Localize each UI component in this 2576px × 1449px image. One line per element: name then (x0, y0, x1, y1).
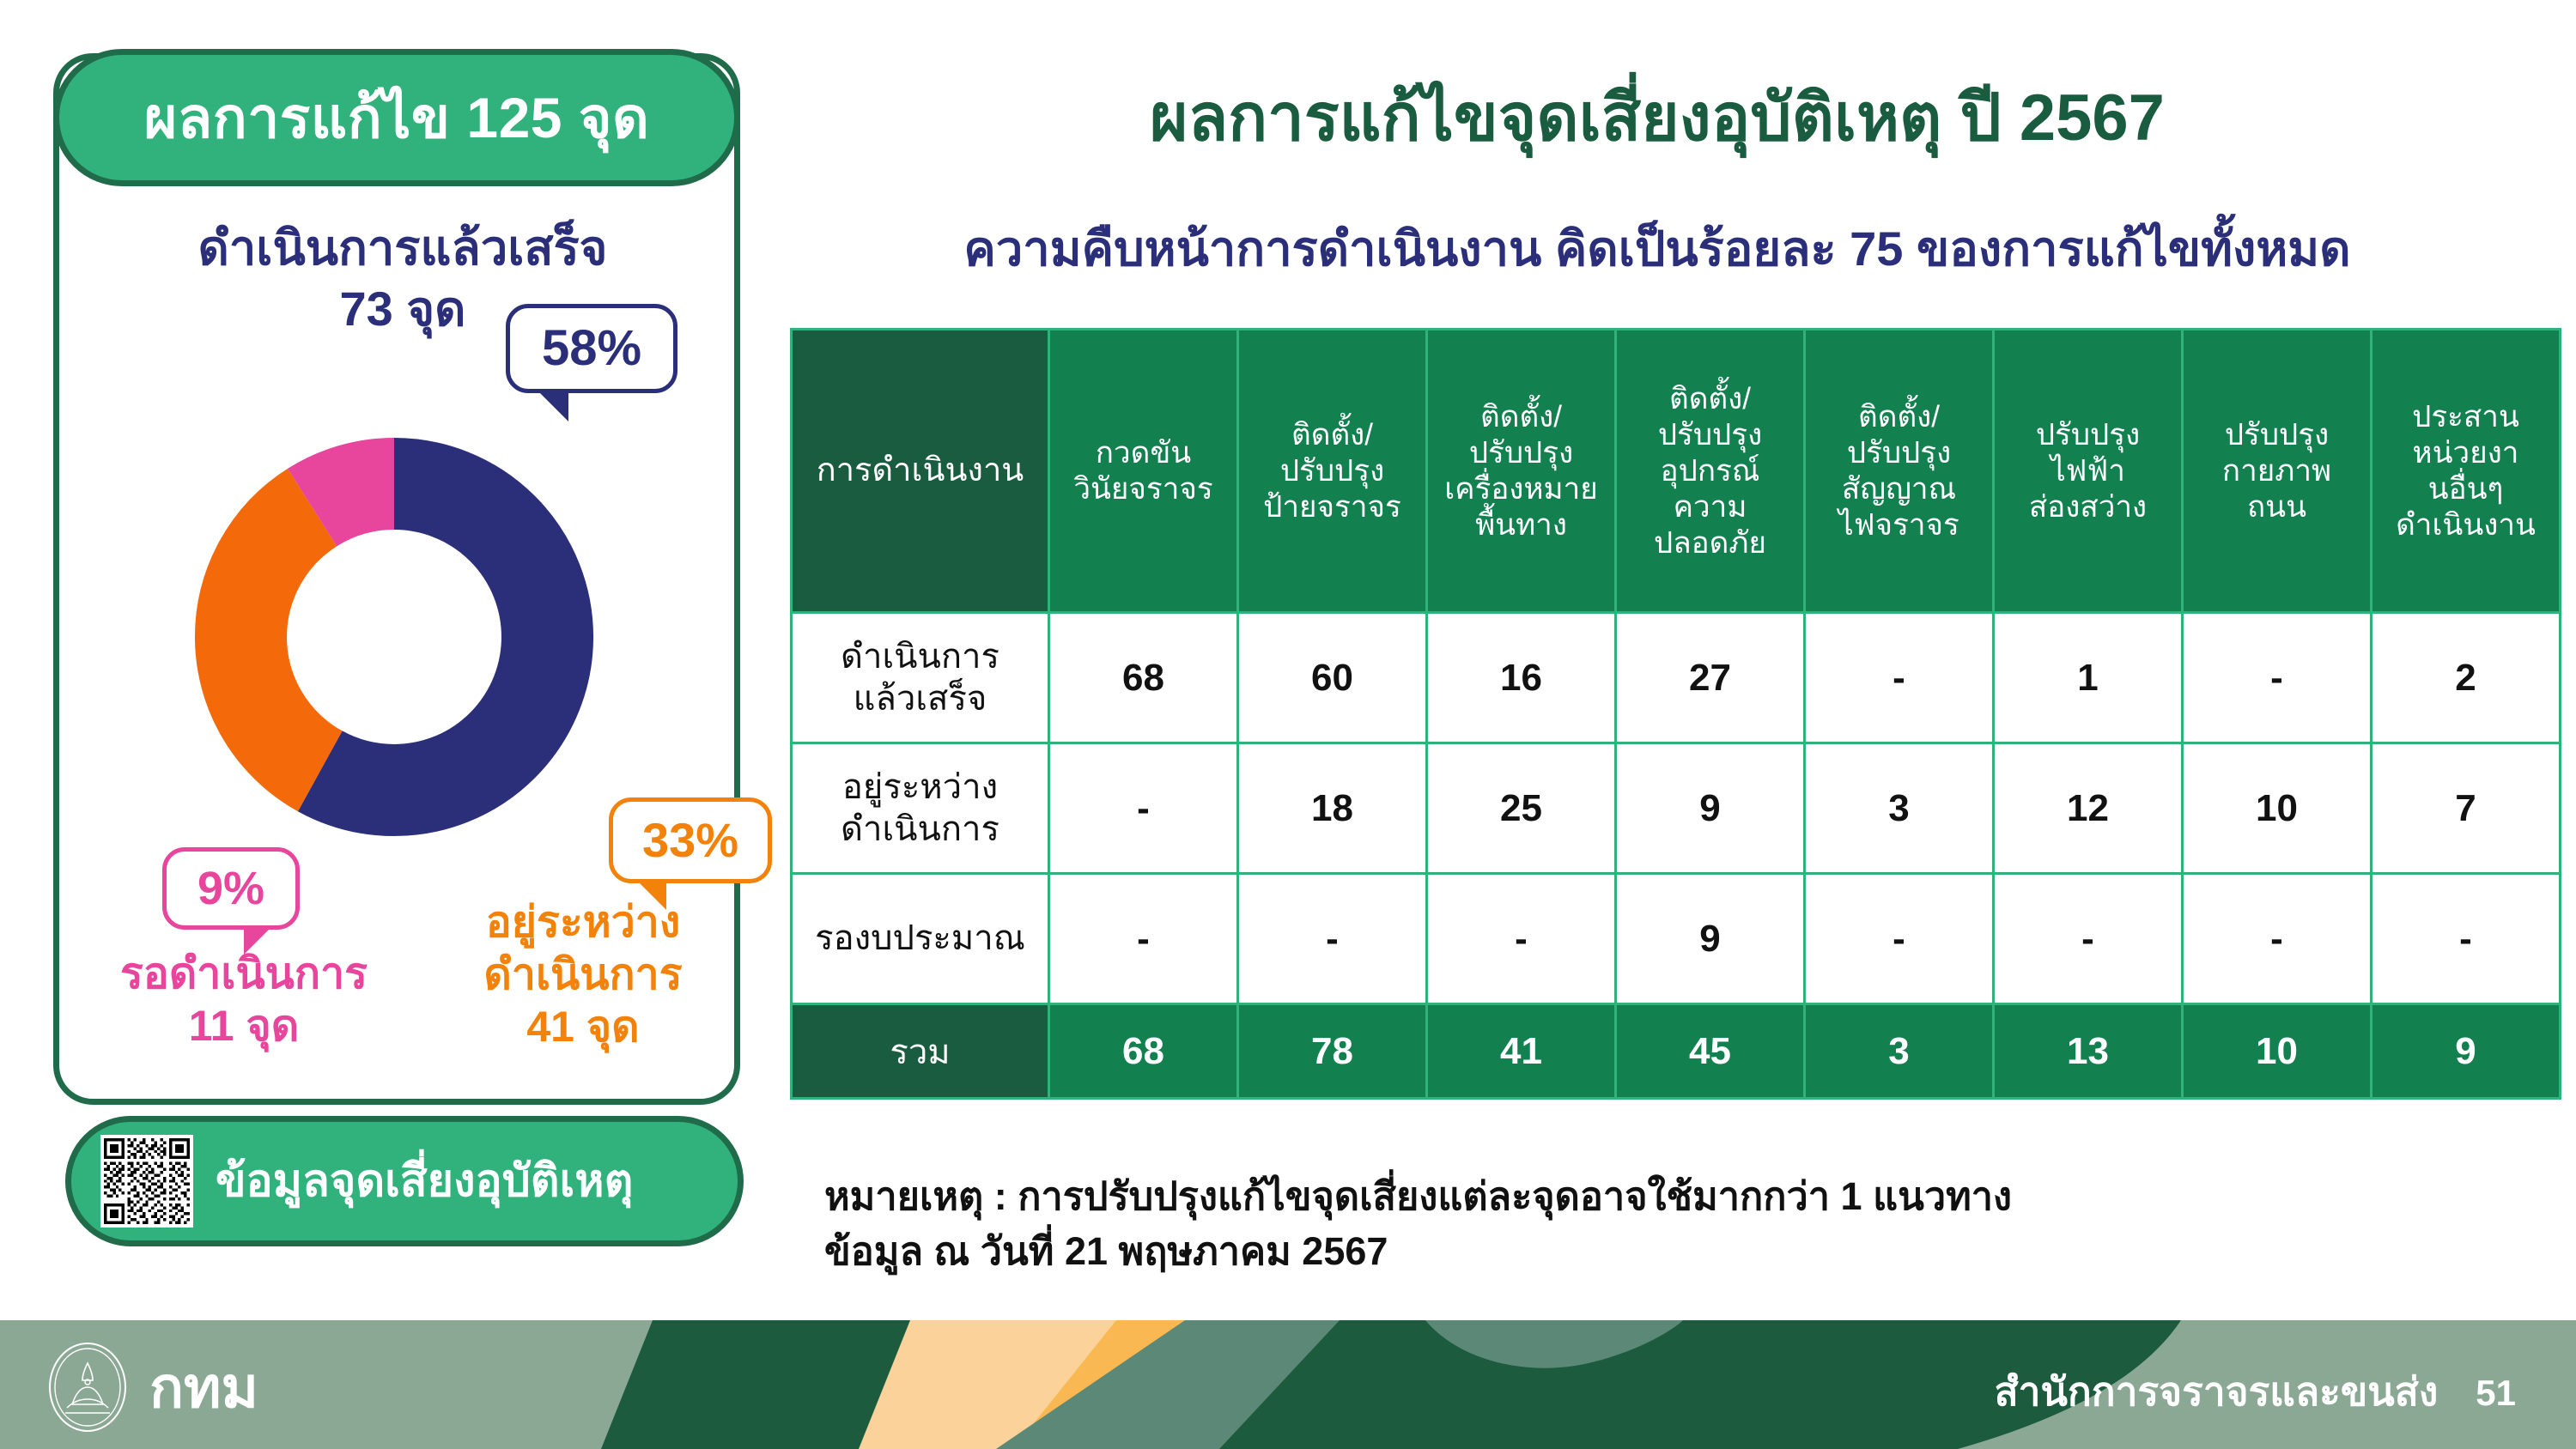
legend-in-progress-line-1: อยู่ระหว่าง (420, 896, 746, 949)
table-cell: 1 (1994, 613, 2183, 743)
table-footer: รวม 68 78 41 45 3 13 10 9 (792, 1004, 2561, 1099)
table-cell: 9 (1616, 874, 1805, 1004)
table-total-cell: 3 (1805, 1004, 1994, 1099)
table-cell: - (1049, 874, 1238, 1004)
table-cell: - (1805, 874, 1994, 1004)
page-subtitle: ความคืบหน้าการดำเนินงาน คิดเป็นร้อยละ 75… (773, 225, 2542, 273)
table-cell: 18 (1238, 743, 1427, 874)
legend-in-progress: อยู่ระหว่าง ดำเนินการ 41 จุด (420, 896, 746, 1053)
table-cell: 9 (1616, 743, 1805, 874)
table-cell: - (1238, 874, 1427, 1004)
table-row: รองบประมาณ - - - 9 - - - - (792, 874, 2561, 1004)
table-cell: - (1049, 743, 1238, 874)
footnotes: หมายเหตุ : การปรับปรุงแก้ไขจุดเสี่ยงแต่ล… (824, 1169, 2012, 1279)
table-cell: 25 (1427, 743, 1616, 874)
donut-title-line-1: ดำเนินการแล้วเสร็จ (59, 218, 746, 279)
table-cell: 7 (2372, 743, 2561, 874)
table-total-label: รวม (792, 1004, 1049, 1099)
legend-in-progress-line-2: ดำเนินการ (420, 949, 746, 1001)
table-cell: - (2372, 874, 2561, 1004)
table-total-cell: 9 (2372, 1004, 2561, 1099)
summary-card-title: ผลการแก้ไข 125 จุด (144, 89, 650, 146)
table-cell: - (1427, 874, 1616, 1004)
table-col-header: กวดขันวินัยจราจร (1049, 330, 1238, 613)
qr-code-icon[interactable] (100, 1135, 193, 1228)
qr-info-label: ข้อมูลจุดเสี่ยงอุบัติเหตุ (216, 1159, 633, 1203)
table-col-header: ติดตั้ง/ปรับปรุงสัญญาณไฟจราจร (1805, 330, 1994, 613)
slide-root: ผลการแก้ไข 125 จุด ดำเนินการแล้วเสร็จ 73… (0, 0, 2576, 1449)
table-corner-header: การดำเนินงาน (792, 330, 1049, 613)
table-cell: - (2183, 874, 2372, 1004)
table-cell: 68 (1049, 613, 1238, 743)
page-title: ผลการแก้ไขจุดเสี่ยงอุบัติเหตุ ปี 2567 (773, 86, 2542, 151)
legend-in-progress-line-3: 41 จุด (420, 1001, 746, 1053)
table-row-label: รองบประมาณ (792, 874, 1049, 1004)
table-cell: - (2183, 613, 2372, 743)
table-total-cell: 45 (1616, 1004, 1805, 1099)
table-row: อยู่ระหว่างดำเนินการ - 18 25 9 3 12 10 7 (792, 743, 2561, 874)
table-cell: - (1994, 874, 2183, 1004)
table-col-header: ประสานหน่วยงานอื่นๆดำเนินงาน (2372, 330, 2561, 613)
donut-chart (175, 418, 613, 856)
table-cell: 2 (2372, 613, 2561, 743)
table-total-cell: 10 (2183, 1004, 2372, 1099)
footer-right: สำนักการจราจรและขนส่ง 51 (1995, 1372, 2516, 1411)
summary-card-header: ผลการแก้ไข 125 จุด (53, 49, 740, 186)
footer-page-number: 51 (2476, 1375, 2516, 1411)
table-col-header: ติดตั้ง/ปรับปรุงเครื่องหมายพื้นทาง (1427, 330, 1616, 613)
footer-brand-label: กทม (149, 1359, 258, 1416)
footnote-line-2: ข้อมูล ณ วันที่ 21 พฤษภาคม 2567 (824, 1224, 2012, 1279)
results-table: การดำเนินงาน กวดขันวินัยจราจร ติดตั้ง/ปร… (790, 328, 2561, 1100)
table-total-cell: 78 (1238, 1004, 1427, 1099)
percent-badge-completed-label: 58% (542, 324, 641, 373)
table-row: ดำเนินการแล้วเสร็จ 68 60 16 27 - 1 - 2 (792, 613, 2561, 743)
table-row-label: ดำเนินการแล้วเสร็จ (792, 613, 1049, 743)
table-col-header: ปรับปรุงไฟฟ้าส่องสว่าง (1994, 330, 2183, 613)
table-header: การดำเนินงาน กวดขันวินัยจราจร ติดตั้ง/ปร… (792, 330, 2561, 613)
footer-organization: สำนักการจราจรและขนส่ง (1995, 1372, 2439, 1411)
qr-info-bar[interactable]: ข้อมูลจุดเสี่ยงอุบัติเหตุ (65, 1116, 744, 1246)
table-cell: 60 (1238, 613, 1427, 743)
legend-pending: รอดำเนินการ 11 จุด (85, 948, 403, 1052)
table-body: ดำเนินการแล้วเสร็จ 68 60 16 27 - 1 - 2 อ… (792, 613, 2561, 1004)
table-col-header: ติดตั้ง/ปรับปรุงอุปกรณ์ความปลอดภัย (1616, 330, 1805, 613)
footnote-line-1: หมายเหตุ : การปรับปรุงแก้ไขจุดเสี่ยงแต่ล… (824, 1169, 2012, 1224)
percent-badge-completed: 58% (506, 304, 677, 393)
table-col-header: ติดตั้ง/ปรับปรุงป้ายจราจร (1238, 330, 1427, 613)
table-total-cell: 13 (1994, 1004, 2183, 1099)
table-col-header: ปรับปรุงกายภาพถนน (2183, 330, 2372, 613)
table-total-row: รวม 68 78 41 45 3 13 10 9 (792, 1004, 2561, 1099)
table-header-row: การดำเนินงาน กวดขันวินัยจราจร ติดตั้ง/ปร… (792, 330, 2561, 613)
table-total-cell: 68 (1049, 1004, 1238, 1099)
footer-brand: กทม (46, 1341, 258, 1434)
table-cell: 27 (1616, 613, 1805, 743)
table-cell: 10 (2183, 743, 2372, 874)
legend-pending-line-2: 11 จุด (85, 1000, 403, 1052)
percent-badge-pending-label: 9% (197, 865, 264, 912)
legend-pending-line-1: รอดำเนินการ (85, 948, 403, 1000)
percent-badge-in-progress-label: 33% (642, 816, 738, 864)
percent-badge-pending: 9% (162, 847, 300, 930)
table-total-cell: 41 (1427, 1004, 1616, 1099)
table-cell: 12 (1994, 743, 2183, 874)
table-cell: 3 (1805, 743, 1994, 874)
table-cell: 16 (1427, 613, 1616, 743)
percent-badge-in-progress: 33% (609, 797, 772, 883)
table-row-label: อยู่ระหว่างดำเนินการ (792, 743, 1049, 874)
bangkok-seal-icon (46, 1341, 129, 1434)
summary-card: ผลการแก้ไข 125 จุด ดำเนินการแล้วเสร็จ 73… (53, 53, 740, 1105)
table-cell: - (1805, 613, 1994, 743)
